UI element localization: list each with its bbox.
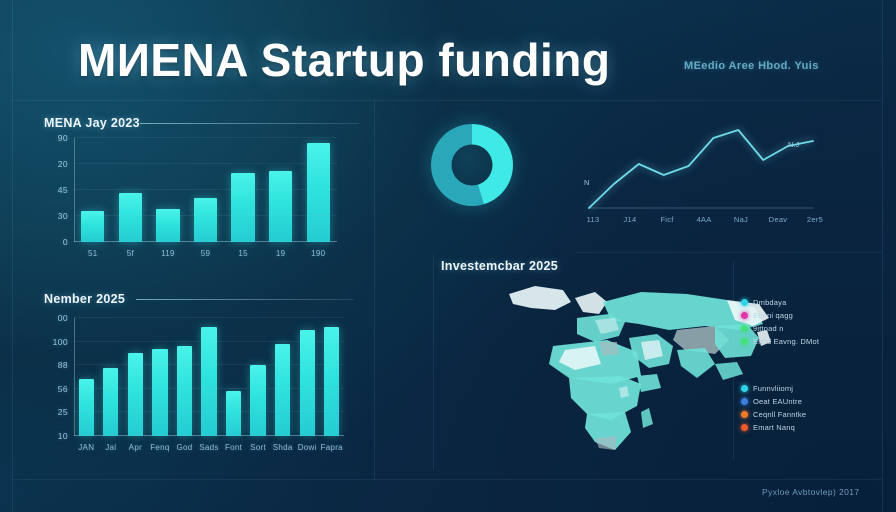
map-region-south-africa-grey	[595, 436, 617, 450]
divider-vertical-mid	[374, 100, 375, 480]
bar-slot[interactable]: 15	[224, 138, 262, 242]
x-axis-tick-label: 15	[238, 249, 248, 258]
map-legend-group-2: FunnvliiomjOeat EAUntreCeqnll FanntkeEma…	[741, 383, 806, 435]
bar[interactable]	[275, 344, 290, 436]
bar[interactable]	[324, 327, 339, 436]
bar[interactable]	[269, 171, 292, 242]
panel-map: Investemcbar 2025	[433, 255, 888, 470]
bar-slot[interactable]: 190	[299, 138, 337, 242]
x-axis-tick-label: 190	[311, 249, 325, 258]
bar-slot[interactable]: Sads	[197, 318, 222, 436]
bar[interactable]	[119, 193, 142, 242]
x-axis-tick-label: Font	[225, 443, 242, 452]
line-chart-annotation-left: N	[584, 178, 589, 187]
y-axis-tick-label: 88	[58, 360, 68, 370]
bar-chart-1-title-rule	[140, 123, 359, 124]
map-region-horn-africa	[637, 374, 661, 392]
legend-color-swatch	[741, 312, 748, 319]
bar-slot[interactable]: Dowi	[295, 318, 320, 436]
legend-item-label: Emart Nanq	[753, 423, 795, 432]
bar[interactable]	[152, 349, 167, 436]
bar[interactable]	[201, 327, 216, 436]
bar-slot[interactable]: 59	[187, 138, 225, 242]
legend-color-swatch	[741, 398, 748, 405]
bar-chart-2-plot: JANJalAprFenqGodSadsFontSortShdaDowiFapr…	[74, 318, 344, 436]
x-axis-tick-label: 5f	[127, 249, 134, 258]
bar-slot[interactable]: Shda	[270, 318, 295, 436]
map-region-madagascar	[641, 408, 653, 428]
bar-slot[interactable]: Jal	[99, 318, 124, 436]
y-axis-tick-label: 00	[58, 313, 68, 323]
x-axis-tick-label: 51	[88, 249, 98, 258]
bar-slot[interactable]: God	[172, 318, 197, 436]
legend-item[interactable]: Dmbdaya	[741, 297, 819, 308]
line-chart-x-tick-label: Ficf	[660, 215, 673, 224]
map-legend-group-1: DmbdayaEnnni qagg9ittoad nEnnd Eavng. DM…	[741, 297, 819, 349]
divider-horizontal-bottom	[12, 479, 882, 480]
bar-slot[interactable]: 51	[74, 138, 112, 242]
x-axis-tick-label: God	[176, 443, 192, 452]
legend-item[interactable]: Emart Nanq	[741, 422, 806, 433]
bar-chart-1-title: MENA Jay 2023	[44, 116, 140, 130]
donut-chart-hole	[452, 145, 493, 186]
gridline	[74, 189, 337, 190]
y-axis-tick-label: 20	[58, 159, 68, 169]
legend-color-swatch	[741, 338, 748, 345]
legend-item[interactable]: Ennni qagg	[741, 310, 819, 321]
bar[interactable]	[300, 330, 315, 436]
x-axis-tick-label: Dowi	[298, 443, 317, 452]
x-axis-tick-label: 119	[161, 249, 175, 258]
gridline	[74, 241, 337, 242]
legend-color-swatch	[741, 299, 748, 306]
divider-horizontal-top	[12, 100, 882, 101]
bar-slot[interactable]: Fapra	[319, 318, 344, 436]
x-axis-tick-label: Jal	[105, 443, 116, 452]
bar-slot[interactable]: 119	[149, 138, 187, 242]
legend-color-swatch	[741, 411, 748, 418]
x-axis-tick-label: 19	[276, 249, 286, 258]
bar[interactable]	[226, 391, 241, 436]
bar-chart-1-bars: 515f119591519190	[74, 138, 337, 242]
bar-slot[interactable]: 5f	[112, 138, 150, 242]
line-chart-svg	[575, 112, 880, 230]
legend-color-swatch	[741, 325, 748, 332]
dashboard-canvas: MИENA Startup funding MEedio Aree Hbod. …	[0, 0, 896, 512]
x-axis-tick-label: Fapra	[321, 443, 343, 452]
gridline	[74, 163, 337, 164]
legend-item-label: Ceqnll Fanntke	[753, 410, 806, 419]
footer-credit: Pyxloe Avbtovlep) 2017	[762, 487, 859, 497]
legend-color-swatch	[741, 424, 748, 431]
legend-color-swatch	[741, 385, 748, 392]
y-axis-tick-label: 90	[58, 133, 68, 143]
y-axis-tick-label: 45	[58, 185, 68, 195]
bar[interactable]	[156, 209, 179, 242]
map-region-scandinavia	[575, 292, 607, 314]
legend-item-label: Ennni qagg	[753, 311, 793, 320]
bar-chart-2-bars: JANJalAprFenqGodSadsFontSortShdaDowiFapr…	[74, 318, 344, 436]
gridline	[74, 215, 337, 216]
gridline	[74, 341, 344, 342]
line-chart-x-tick-label: 4AA	[696, 215, 711, 224]
bar[interactable]	[103, 368, 118, 436]
y-axis-tick-label: 56	[58, 384, 68, 394]
bar-slot[interactable]: Font	[221, 318, 246, 436]
world-map[interactable]	[491, 280, 781, 465]
line-chart-x-tick-label: 113	[587, 215, 600, 224]
map-title: Investemcbar 2025	[441, 259, 558, 273]
x-axis-tick-label: Apr	[129, 443, 142, 452]
x-axis-tick-label: Sads	[199, 443, 218, 452]
legend-item-label: Dmbdaya	[753, 298, 787, 307]
panel-line-chart: N N.J 113J14Ficf4AANaJDeav2er5	[575, 112, 880, 230]
x-axis-tick-label: JAN	[78, 443, 94, 452]
bar-slot[interactable]: 19	[262, 138, 300, 242]
page-subtitle: MEedio Aree Hbod. Yuis	[684, 60, 819, 72]
page-title: MИENA Startup funding	[78, 33, 610, 87]
legend-item[interactable]: Oeat EAUntre	[741, 396, 806, 407]
bar-slot[interactable]: Apr	[123, 318, 148, 436]
legend-item[interactable]: 9ittoad n	[741, 323, 819, 334]
x-axis-tick-label: Fenq	[150, 443, 169, 452]
bar-slot[interactable]: Fenq	[148, 318, 173, 436]
legend-item-label: 9ittoad n	[753, 324, 784, 333]
line-chart-x-tick-label: NaJ	[734, 215, 748, 224]
gridline	[74, 435, 344, 436]
panel-donut-chart[interactable]	[431, 124, 513, 206]
divider-vertical-left	[12, 0, 13, 512]
gridline	[74, 137, 337, 138]
y-axis-tick-label: 10	[58, 431, 68, 441]
divider-horizontal-mid	[575, 252, 882, 253]
x-axis-tick-label: 59	[201, 249, 211, 258]
legend-item-label: Funnvliiomj	[753, 384, 793, 393]
x-axis-tick-label: Sort	[250, 443, 266, 452]
y-axis-tick-label: 30	[58, 211, 68, 221]
y-axis-tick-label: 0	[63, 237, 68, 247]
line-chart-annotation-right: N.J	[788, 140, 799, 149]
line-chart-x-tick-label: Deav	[769, 215, 788, 224]
bar-slot[interactable]: JAN	[74, 318, 99, 436]
x-axis-tick-label: Shda	[273, 443, 293, 452]
gridline	[74, 317, 344, 318]
bar[interactable]	[177, 346, 192, 436]
line-chart-series	[589, 130, 813, 208]
bar[interactable]	[128, 353, 143, 436]
y-axis-tick-label: 100	[53, 337, 68, 347]
gridline	[74, 388, 344, 389]
legend-item-label: Oeat EAUntre	[753, 397, 802, 406]
panel-bar-chart-2: Nember 2025 JANJalAprFenqGodSadsFontSort…	[44, 292, 354, 457]
line-chart-x-tick-label: 2er5	[807, 215, 823, 224]
legend-item[interactable]: Ennd Eavng. DMot	[741, 336, 819, 347]
bar[interactable]	[307, 143, 330, 242]
map-region-southeast-asia	[715, 362, 743, 380]
bar-chart-1-plot: 515f119591519190 030452090	[74, 138, 337, 242]
gridline	[74, 364, 344, 365]
bar-chart-2-title: Nember 2025	[44, 292, 125, 306]
bar[interactable]	[194, 198, 217, 242]
bar-chart-2-title-rule	[136, 299, 354, 300]
gridline	[74, 411, 344, 412]
legend-item[interactable]: Ceqnll Fanntke	[741, 409, 806, 420]
line-chart-x-tick-label: J14	[624, 215, 637, 224]
bar[interactable]	[250, 365, 265, 436]
panel-bar-chart-1: MENA Jay 2023 515f119591519190 030452090	[44, 116, 359, 266]
y-axis-tick-label: 25	[58, 407, 68, 417]
map-region-greenland	[509, 286, 571, 310]
legend-item[interactable]: Funnvliiomj	[741, 383, 806, 394]
legend-item-label: Ennd Eavng. DMot	[753, 337, 819, 346]
bar-slot[interactable]: Sort	[246, 318, 271, 436]
bar[interactable]	[231, 173, 254, 242]
